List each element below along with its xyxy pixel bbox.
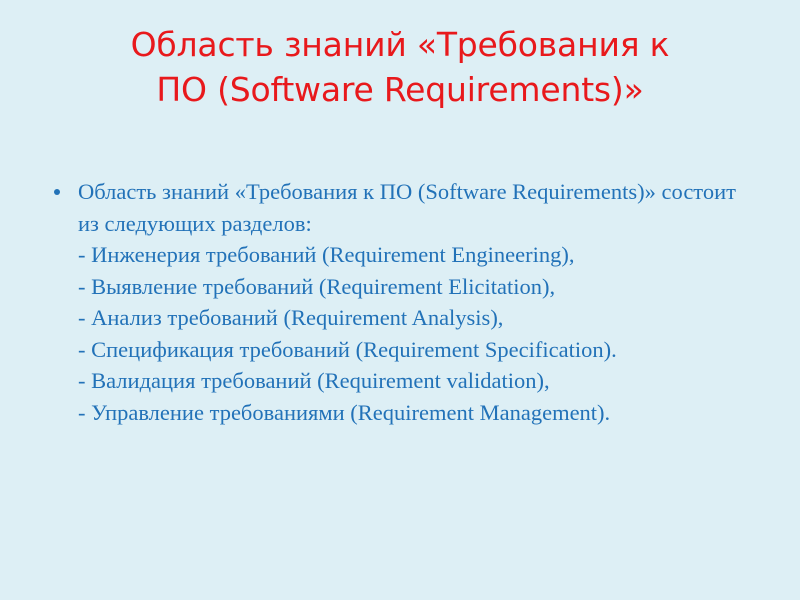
section-line-3: - Анализ требований (Requirement Analysi… [78,302,748,334]
title-line-1: Область знаний «Требования к [60,22,740,67]
list-item: Область знаний «Требования к ПО (Softwar… [48,176,748,428]
slide-canvas: Область знаний «Требования к ПО (Softwar… [0,0,800,600]
section-line-1: - Инженерия требований (Requirement Engi… [78,239,748,271]
section-line-5: - Валидация требований (Requirement vali… [78,365,748,397]
bullet-paragraph: Область знаний «Требования к ПО (Softwar… [78,176,748,428]
section-line-2: - Выявление требований (Requirement Elic… [78,271,748,303]
lead-text: Область знаний «Требования к ПО (Softwar… [78,176,748,239]
slide-title: Область знаний «Требования к ПО (Softwar… [60,22,740,112]
section-line-4: - Спецификация требований (Requirement S… [78,334,748,366]
bullet-dot-icon [54,189,60,195]
section-line-6: - Управление требованиями (Requirement M… [78,397,748,429]
title-line-2: ПО (Software Requirements)» [60,67,740,112]
slide-body: Область знаний «Требования к ПО (Softwar… [48,176,748,428]
